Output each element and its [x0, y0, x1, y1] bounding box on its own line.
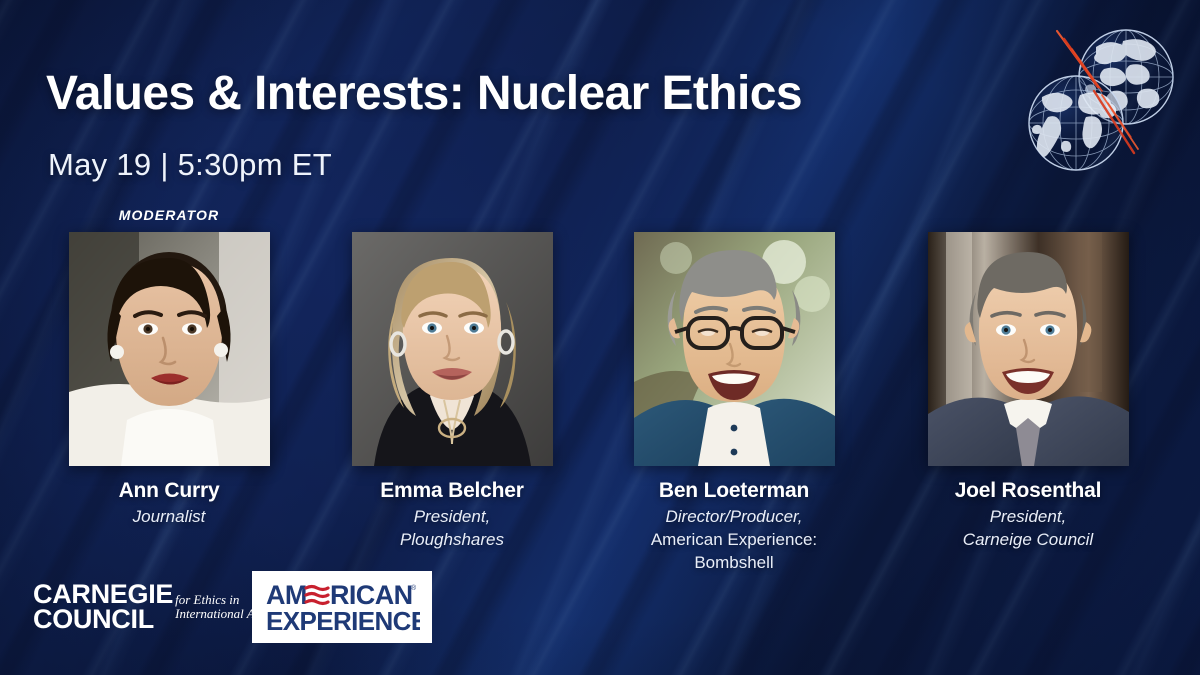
ae-word-experience: EXPERIENCE — [266, 606, 420, 634]
carnegie-council-wordmark: CARNEGIE COUNCIL — [33, 582, 173, 632]
event-promo-graphic: Values & Interests: Nuclear Ethics May 1… — [0, 0, 1200, 675]
speaker-card-2: Ben Loeterman Director/Producer, America… — [614, 232, 854, 575]
speaker-role: President,Carneige Council — [908, 506, 1148, 552]
event-datetime: May 19 | 5:30pm ET — [48, 147, 332, 183]
speaker-name: Joel Rosenthal — [908, 479, 1148, 503]
event-title: Values & Interests: Nuclear Ethics — [46, 66, 802, 121]
speaker-role-regular: American Experience:Bombshell — [614, 529, 854, 575]
photo-joel-rosenthal — [928, 232, 1129, 466]
speaker-card-0: MODERATOR — [49, 232, 289, 529]
speaker-name: Ben Loeterman — [614, 479, 854, 503]
photo-emma-belcher — [352, 232, 553, 466]
speaker-role: President,Ploughshares — [332, 506, 572, 552]
speaker-role: Director/Producer, American Experience:B… — [614, 506, 854, 575]
speaker-name: Emma Belcher — [332, 479, 572, 503]
twin-globes-icon — [1018, 25, 1188, 175]
speaker-role-italic: Director/Producer, — [614, 506, 854, 529]
american-experience-wordmark: AM RICAN EXPERIENCE ® — [264, 580, 420, 634]
moderator-label: MODERATOR — [49, 207, 289, 223]
speaker-card-1: Emma Belcher President,Ploughshares — [332, 232, 572, 552]
photo-ben-loeterman — [634, 232, 835, 466]
speaker-role-italic: President,Carneige Council — [908, 506, 1148, 552]
speaker-name: Ann Curry — [49, 479, 289, 503]
council-line: COUNCIL — [33, 607, 173, 632]
american-experience-logo: AM RICAN EXPERIENCE ® — [252, 571, 432, 643]
speaker-role-italic: President,Ploughshares — [332, 506, 572, 552]
registered-trademark-icon: ® — [411, 584, 417, 592]
photo-ann-curry — [69, 232, 270, 466]
speaker-role: Journalist — [49, 506, 289, 529]
speaker-role-italic: Journalist — [49, 506, 289, 529]
carnegie-council-logo: CARNEGIE COUNCIL for Ethics in Internati… — [33, 582, 282, 632]
speaker-card-3: Joel Rosenthal President,Carneige Counci… — [908, 232, 1148, 552]
